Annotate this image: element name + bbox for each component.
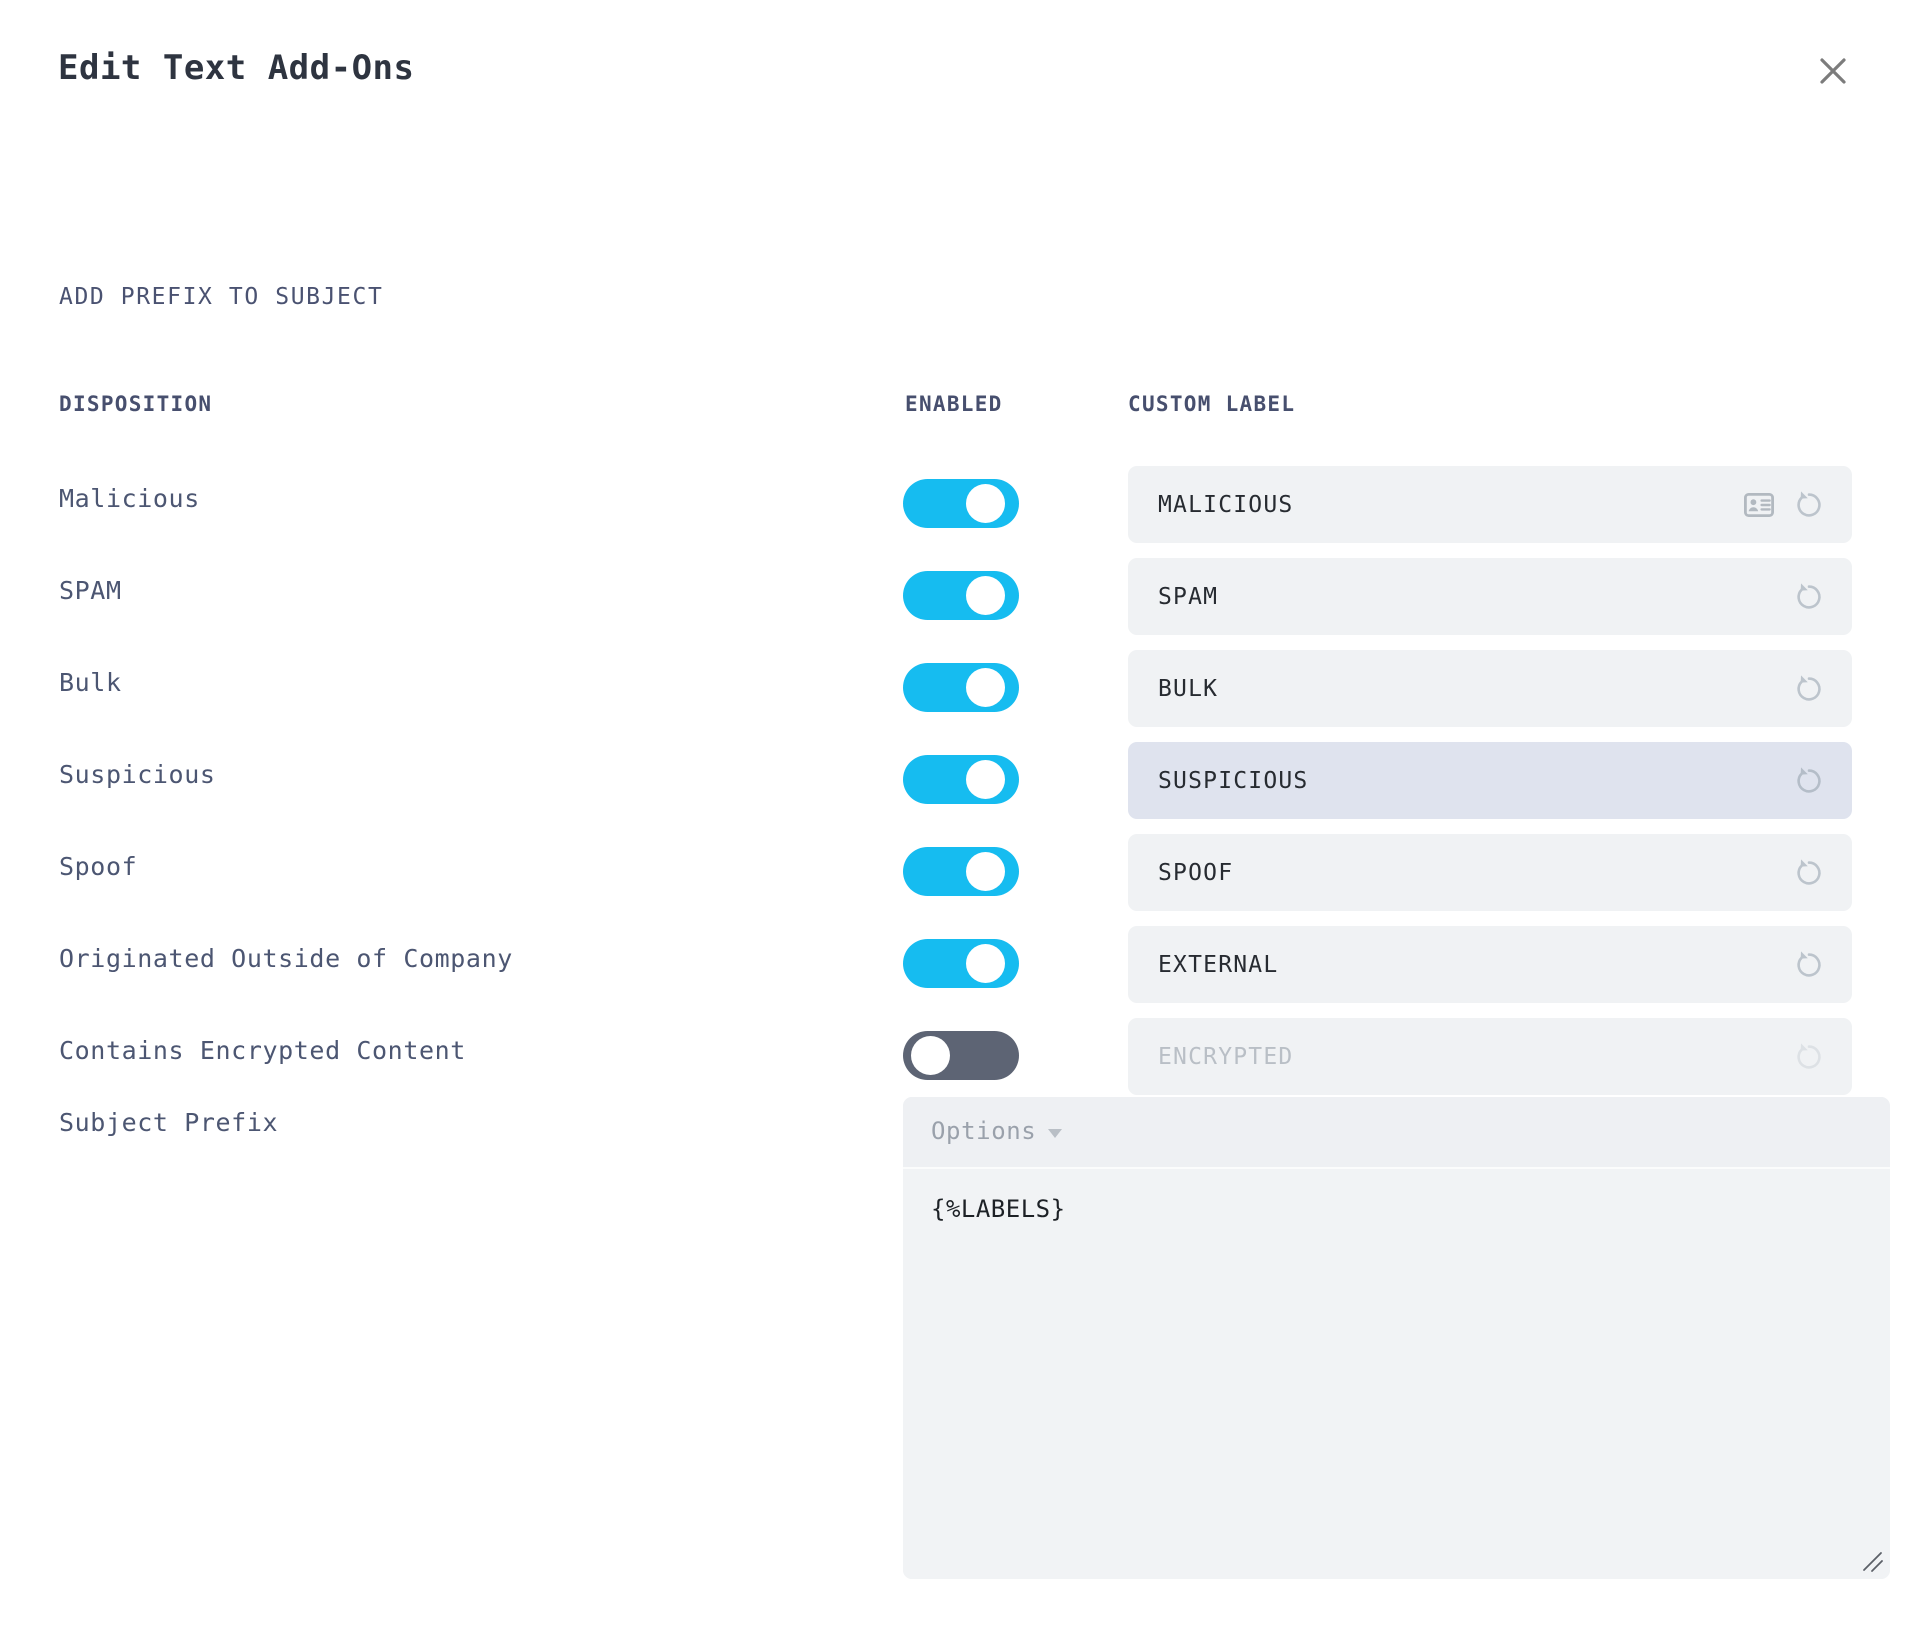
disposition-label: Spoof (59, 852, 137, 881)
table-row: MaliciousMALICIOUS (0, 462, 1908, 554)
custom-label-value: ENCRYPTED (1158, 1044, 1293, 1070)
options-dropdown-label: Options (931, 1117, 1036, 1145)
custom-label-input[interactable]: BULK (1128, 650, 1852, 727)
contact-card-icon[interactable] (1744, 493, 1774, 517)
toggle-knob (966, 484, 1005, 523)
custom-label-input[interactable]: EXTERNAL (1128, 926, 1852, 1003)
table-row: SpoofSPOOF (0, 830, 1908, 922)
subject-prefix-toolbar: Options (903, 1097, 1890, 1169)
field-icon-group (1792, 650, 1826, 727)
custom-label-value: BULK (1158, 676, 1218, 702)
reset-icon[interactable] (1792, 672, 1826, 706)
custom-label-value: SPOOF (1158, 860, 1233, 886)
subject-prefix-value: {%LABELS} (931, 1195, 1066, 1223)
toggle-knob (966, 760, 1005, 799)
toggle-knob (966, 668, 1005, 707)
subject-prefix-label: Subject Prefix (59, 1108, 278, 1137)
reset-icon[interactable] (1792, 764, 1826, 798)
reset-icon[interactable] (1792, 580, 1826, 614)
table-row: BulkBULK (0, 646, 1908, 738)
disposition-label: Originated Outside of Company (59, 944, 513, 973)
custom-label-input[interactable]: SPAM (1128, 558, 1852, 635)
custom-label-value: SUSPICIOUS (1158, 768, 1308, 794)
enabled-toggle[interactable] (903, 571, 1019, 620)
toggle-knob (966, 576, 1005, 615)
enabled-toggle[interactable] (903, 663, 1019, 712)
options-dropdown-button[interactable]: Options (931, 1117, 1062, 1145)
custom-label-input[interactable]: SPOOF (1128, 834, 1852, 911)
custom-label-value: MALICIOUS (1158, 492, 1293, 518)
toggle-knob (966, 852, 1005, 891)
enabled-toggle[interactable] (903, 847, 1019, 896)
table-row: Originated Outside of CompanyEXTERNAL (0, 922, 1908, 1014)
enabled-toggle[interactable] (903, 479, 1019, 528)
custom-label-input[interactable]: SUSPICIOUS (1128, 742, 1852, 819)
enabled-toggle[interactable] (903, 755, 1019, 804)
disposition-label: Bulk (59, 668, 122, 697)
reset-icon[interactable] (1792, 488, 1826, 522)
field-icon-group (1792, 558, 1826, 635)
enabled-toggle[interactable] (903, 1031, 1019, 1080)
custom-label-input[interactable]: MALICIOUS (1128, 466, 1852, 543)
field-icon-group (1792, 834, 1826, 911)
custom-label-value: EXTERNAL (1158, 952, 1278, 978)
reset-icon[interactable] (1792, 948, 1826, 982)
field-icon-group (1792, 1018, 1826, 1095)
table-row: SuspiciousSUSPICIOUS (0, 738, 1908, 830)
table-row: Contains Encrypted ContentENCRYPTED (0, 1014, 1908, 1106)
disposition-label: SPAM (59, 576, 122, 605)
chevron-down-icon (1048, 1129, 1062, 1138)
subject-prefix-panel: Options {%LABELS} (903, 1097, 1890, 1579)
custom-label-value: SPAM (1158, 584, 1218, 610)
reset-icon[interactable] (1792, 856, 1826, 890)
disposition-label: Suspicious (59, 760, 216, 789)
reset-icon (1792, 1040, 1826, 1074)
enabled-toggle[interactable] (903, 939, 1019, 988)
disposition-label: Malicious (59, 484, 200, 513)
custom-label-input: ENCRYPTED (1128, 1018, 1852, 1095)
disposition-label: Contains Encrypted Content (59, 1036, 466, 1065)
subject-prefix-textarea[interactable]: {%LABELS} (903, 1169, 1890, 1579)
toggle-knob (966, 944, 1005, 983)
resize-grip-icon[interactable] (1862, 1551, 1884, 1573)
table-row: SPAMSPAM (0, 554, 1908, 646)
field-icon-group (1792, 926, 1826, 1003)
toggle-knob (911, 1036, 950, 1075)
field-icon-group (1744, 466, 1826, 543)
field-icon-group (1792, 742, 1826, 819)
